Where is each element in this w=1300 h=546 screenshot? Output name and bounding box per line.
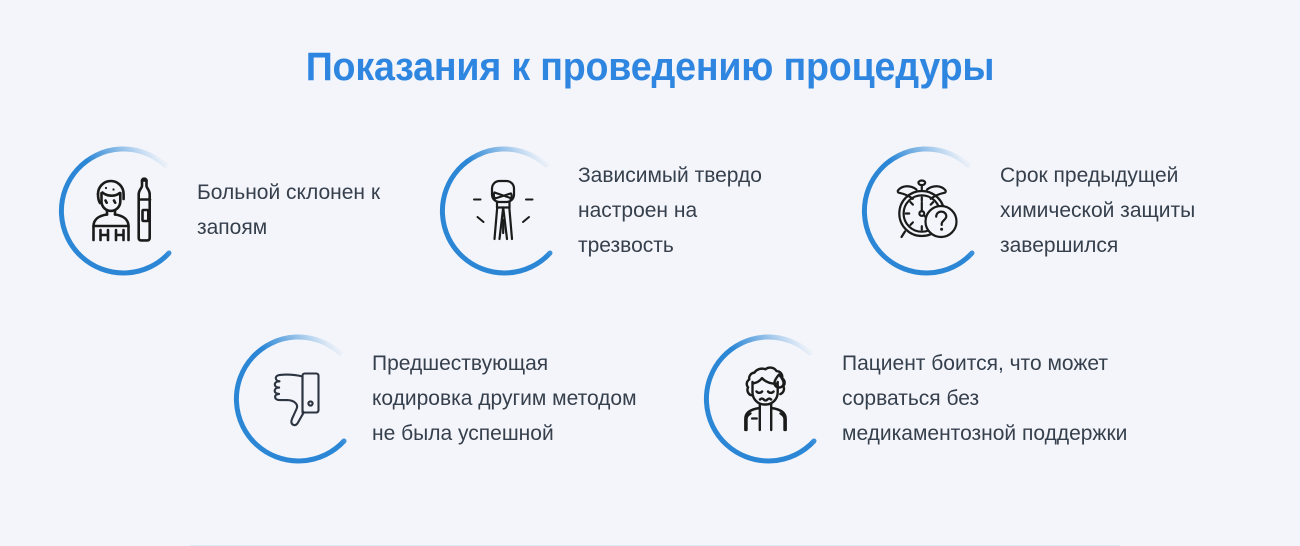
icon-badge-2 [434,141,572,279]
indication-text-5: Пациент боится, что может сорваться без … [842,346,1212,451]
page-title: Показания к проведению процедуры [39,44,1261,90]
thumbs-down-icon [255,356,339,440]
indication-text-2: Зависимый твердо настроен на трезвость [578,158,803,263]
indication-item-5: Пациент боится, что может сорваться без … [698,329,1212,467]
determined-person-icon [461,168,545,252]
indication-text-1: Больной склонен к запоям [197,175,432,245]
alarm-clock-question-icon [883,168,967,252]
indication-item-3: Срок предыдущей химической защиты заверш… [856,141,1265,279]
indication-text-3: Срок предыдущей химической защиты заверш… [1000,158,1265,263]
infographic-root: Показания к проведению процедуры [0,0,1300,546]
indication-item-2: Зависимый твердо настроен на трезвость [434,141,803,279]
icon-badge-5 [698,329,836,467]
indication-item-4: Предшествующая кодировка другим методом … [228,329,702,467]
icon-badge-1 [53,141,191,279]
icon-badge-3 [856,141,994,279]
indication-text-4: Предшествующая кодировка другим методом … [372,346,702,451]
person-with-bottle-icon [80,168,164,252]
indication-item-1: Больной склонен к запоям [53,141,432,279]
worried-person-icon [725,356,809,440]
icon-badge-4 [228,329,366,467]
